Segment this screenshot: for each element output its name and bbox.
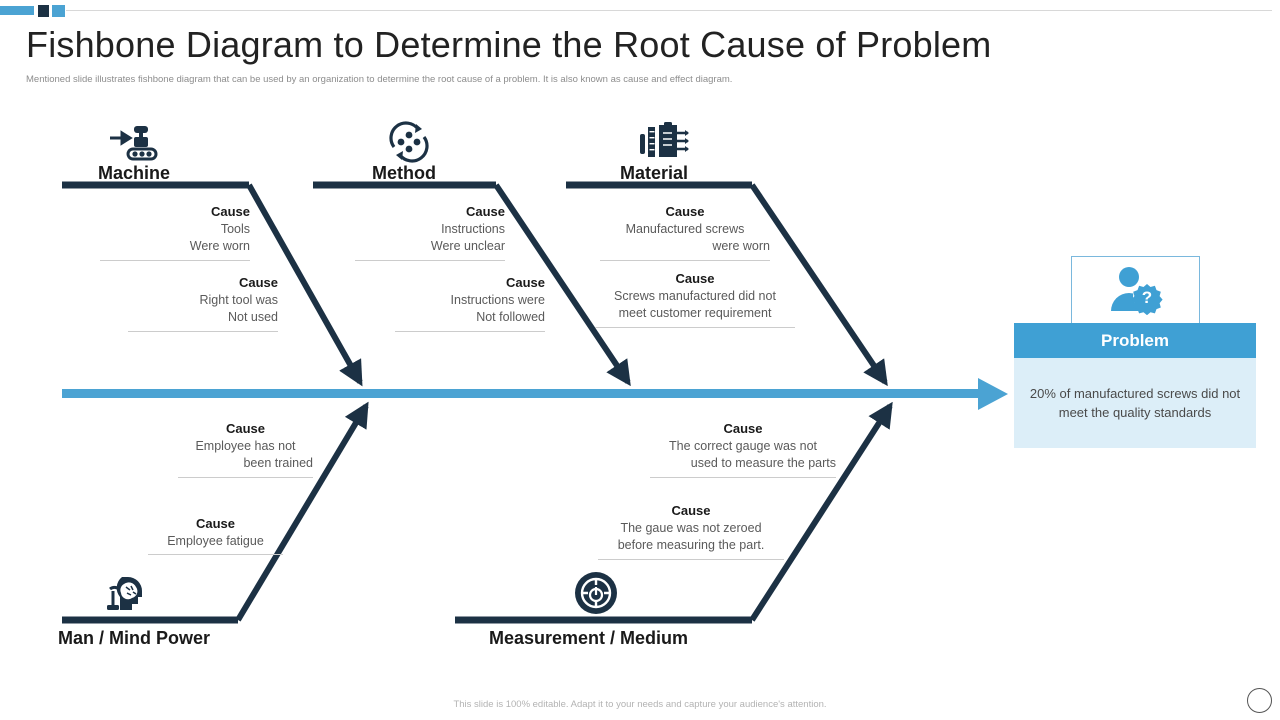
cause-underline [598, 559, 784, 560]
fishbone-spine [62, 389, 982, 398]
cause-title: Cause [355, 203, 505, 221]
cause-block: Cause Tools Were worn [100, 203, 250, 261]
cause-block: Cause Instructions were Not followed [395, 274, 545, 332]
cause-line: used to measure the parts [650, 455, 836, 473]
problem-text: 20% of manufactured screws did not meet … [1014, 358, 1256, 448]
cause-line: meet customer requirement [595, 305, 795, 323]
cause-title: Cause [100, 203, 250, 221]
decoration-square-dark [38, 5, 49, 17]
category-label-measurement-medium: Measurement / Medium [489, 628, 688, 649]
cause-line: The correct gauge was not [650, 438, 836, 456]
cause-line: Screws manufactured did not [595, 288, 795, 306]
cause-block: Cause The correct gauge was not used to … [650, 420, 836, 478]
cause-underline [178, 477, 313, 478]
category-label-method: Method [372, 163, 436, 184]
cause-underline [595, 327, 795, 328]
cause-block: Cause Manufactured screws were worn [600, 203, 770, 261]
cause-line: Instructions were [395, 292, 545, 310]
cause-line: been trained [178, 455, 313, 473]
cause-line: Tools [100, 221, 250, 239]
cause-line: Instructions [355, 221, 505, 239]
cause-underline [650, 477, 836, 478]
category-label-machine: Machine [98, 163, 170, 184]
person-question-gear-icon: ? [1105, 265, 1167, 315]
corner-circle-icon [1247, 688, 1272, 713]
cause-line: Were unclear [355, 238, 505, 256]
cause-title: Cause [148, 515, 283, 533]
cause-block: Cause The gaue was not zeroed before mea… [598, 502, 784, 560]
cause-title: Cause [395, 274, 545, 292]
cause-line: Manufactured screws [600, 221, 770, 239]
gauge-dial-icon [573, 570, 619, 621]
decoration-bar [0, 6, 34, 15]
cause-title: Cause [598, 502, 784, 520]
category-label-man-mind-power: Man / Mind Power [58, 628, 210, 649]
blueprint-clipboard-icon [638, 122, 690, 167]
page-title: Fishbone Diagram to Determine the Root C… [26, 24, 991, 66]
cause-block: Cause Employee has not been trained [178, 420, 313, 478]
problem-icon-box: ? [1071, 256, 1200, 324]
cause-underline [148, 554, 283, 555]
cause-title: Cause [600, 203, 770, 221]
cause-block: Cause Right tool was Not used [128, 274, 278, 332]
cause-line: Were worn [100, 238, 250, 256]
cause-underline [100, 260, 250, 261]
cause-line: Not followed [395, 309, 545, 327]
category-label-material: Material [620, 163, 688, 184]
cause-title: Cause [178, 420, 313, 438]
cause-line: Right tool was [128, 292, 278, 310]
decoration-square-blue [52, 5, 65, 17]
cause-block: Cause Instructions Were unclear [355, 203, 505, 261]
slide-canvas: Fishbone Diagram to Determine the Root C… [0, 0, 1280, 720]
svg-text:?: ? [1141, 288, 1151, 307]
cause-block: Cause Screws manufactured did not meet c… [595, 270, 795, 328]
cause-line: were worn [600, 238, 770, 256]
process-cycle-icon [386, 121, 432, 168]
cause-line: The gaue was not zeroed [598, 520, 784, 538]
cause-underline [355, 260, 505, 261]
cause-title: Cause [650, 420, 836, 438]
fishbone-spine-arrow-icon [978, 378, 1008, 410]
cause-line: before measuring the part. [598, 537, 784, 555]
decoration-rule [66, 10, 1272, 11]
conveyor-robot-icon [108, 124, 166, 167]
problem-heading: Problem [1014, 323, 1256, 358]
cause-underline [600, 260, 770, 261]
cause-title: Cause [595, 270, 795, 288]
cause-title: Cause [128, 274, 278, 292]
page-subtitle: Mentioned slide illustrates fishbone dia… [26, 74, 732, 85]
cause-line: Employee fatigue [148, 533, 283, 551]
cause-underline [128, 331, 278, 332]
cause-underline [395, 331, 545, 332]
cause-line: Not used [128, 309, 278, 327]
cause-block: Cause Employee fatigue [148, 515, 283, 555]
head-brain-icon [100, 571, 156, 622]
footer-note: This slide is 100% editable. Adapt it to… [0, 699, 1280, 710]
cause-line: Employee has not [178, 438, 313, 456]
